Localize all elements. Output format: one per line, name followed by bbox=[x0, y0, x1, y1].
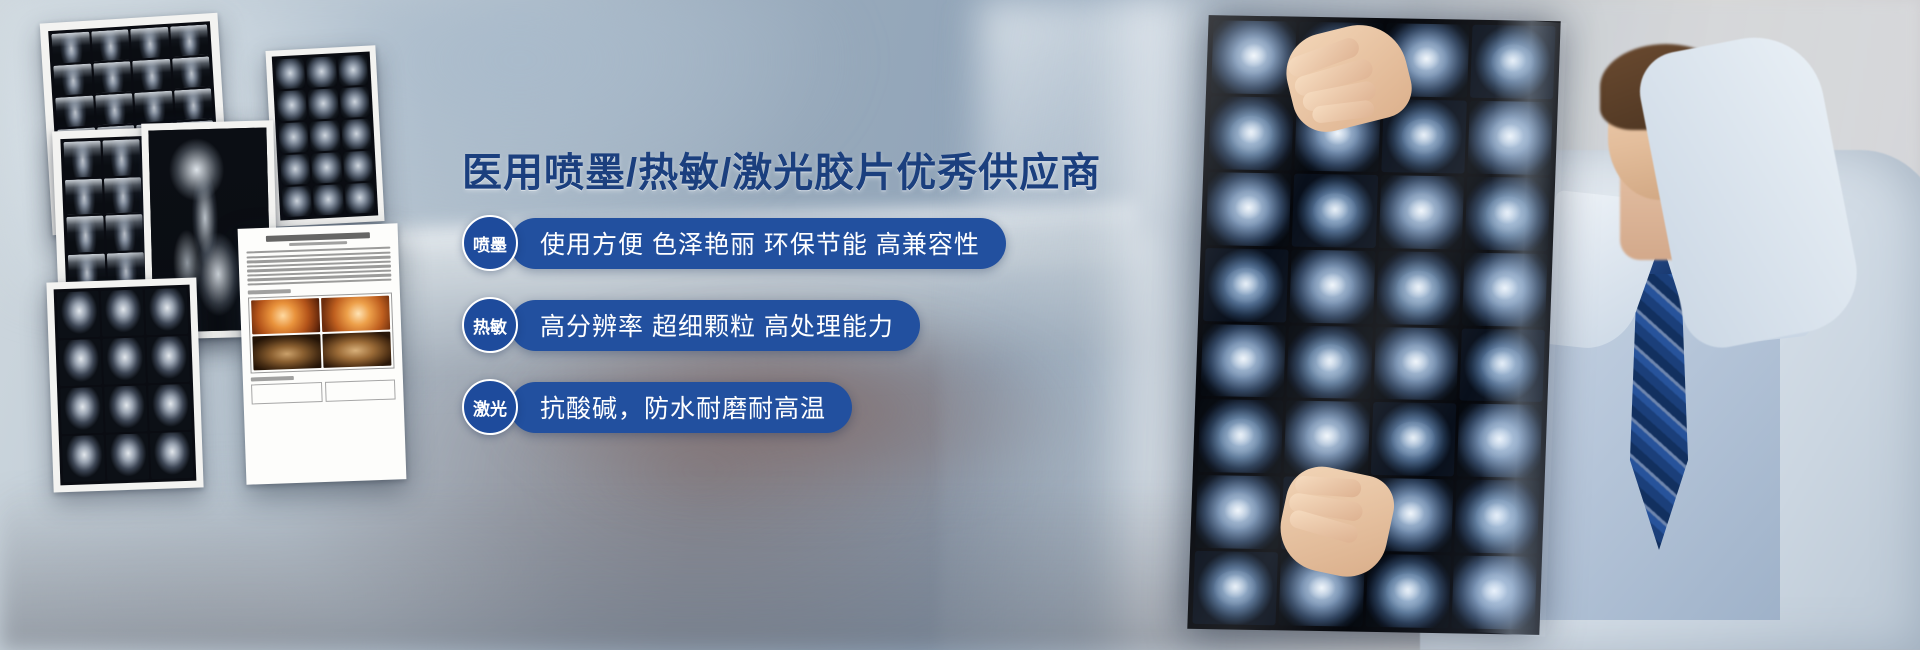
feature-pill-laser[interactable]: 抗酸碱，防水耐磨耐高温 bbox=[510, 382, 852, 433]
category-badge-inkjet[interactable]: 喷墨 bbox=[462, 215, 518, 271]
feature-row-laser[interactable]: 激光 抗酸碱，防水耐磨耐高温 bbox=[462, 379, 1006, 435]
feature-pill-inkjet[interactable]: 使用方便 色泽艳丽 环保节能 高兼容性 bbox=[510, 218, 1006, 269]
feature-row-thermal[interactable]: 热敏 高分辨率 超细颗粒 高处理能力 bbox=[462, 297, 1006, 353]
feature-row-list: 喷墨 使用方便 色泽艳丽 环保节能 高兼容性 热敏 高分辨率 超细颗粒 高处理能… bbox=[462, 215, 1006, 461]
page-title: 医用喷墨/热敏/激光胶片优秀供应商 bbox=[462, 140, 1101, 198]
category-badge-laser[interactable]: 激光 bbox=[462, 379, 518, 435]
feature-row-inkjet[interactable]: 喷墨 使用方便 色泽艳丽 环保节能 高兼容性 bbox=[462, 215, 1006, 271]
feature-pill-thermal[interactable]: 高分辨率 超细颗粒 高处理能力 bbox=[510, 300, 920, 351]
category-badge-thermal[interactable]: 热敏 bbox=[462, 297, 518, 353]
banner-content: 医用喷墨/热敏/激光胶片优秀供应商 喷墨 使用方便 色泽艳丽 环保节能 高兼容性… bbox=[0, 0, 1920, 650]
hero-banner: 医用喷墨/热敏/激光胶片优秀供应商 喷墨 使用方便 色泽艳丽 环保节能 高兼容性… bbox=[0, 0, 1920, 650]
